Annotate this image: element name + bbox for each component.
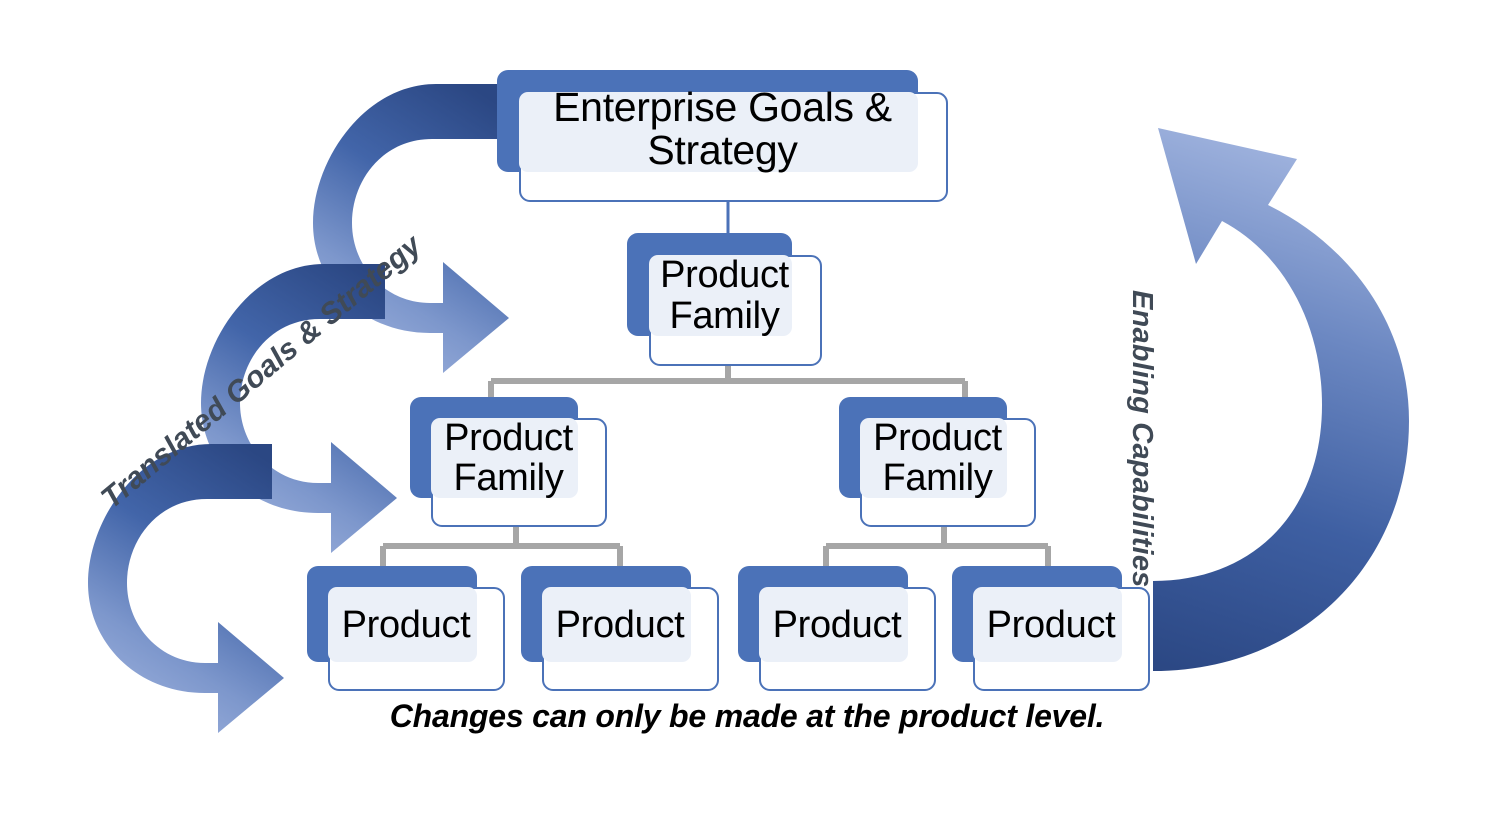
node-product-family-right[interactable]: Product Family bbox=[839, 397, 1036, 527]
node-product-4[interactable]: Product bbox=[952, 566, 1150, 691]
node-label: Product bbox=[952, 566, 1150, 684]
hook-arrow-1 bbox=[313, 84, 509, 373]
node-product-3[interactable]: Product bbox=[738, 566, 936, 691]
node-label: Product bbox=[521, 566, 719, 684]
node-product-family-left[interactable]: Product Family bbox=[410, 397, 607, 527]
diagram-canvas: Enterprise Goals & Strategy Product Fami… bbox=[0, 0, 1494, 834]
node-label: Enterprise Goals & Strategy bbox=[497, 70, 948, 188]
node-product-2[interactable]: Product bbox=[521, 566, 719, 691]
node-label: Product Family bbox=[410, 397, 607, 519]
node-label: Product Family bbox=[627, 233, 822, 358]
caption-enabling-capabilities: Enabling Capabilities bbox=[1125, 290, 1158, 587]
cycle-arrow-up bbox=[1153, 128, 1409, 671]
node-label: Product Family bbox=[839, 397, 1036, 519]
node-product-1[interactable]: Product bbox=[307, 566, 505, 691]
node-enterprise-goals[interactable]: Enterprise Goals & Strategy bbox=[497, 70, 948, 202]
bottom-caption: Changes can only be made at the product … bbox=[0, 698, 1494, 735]
node-label: Product bbox=[307, 566, 505, 684]
node-product-family-top[interactable]: Product Family bbox=[627, 233, 822, 366]
node-label: Product bbox=[738, 566, 936, 684]
